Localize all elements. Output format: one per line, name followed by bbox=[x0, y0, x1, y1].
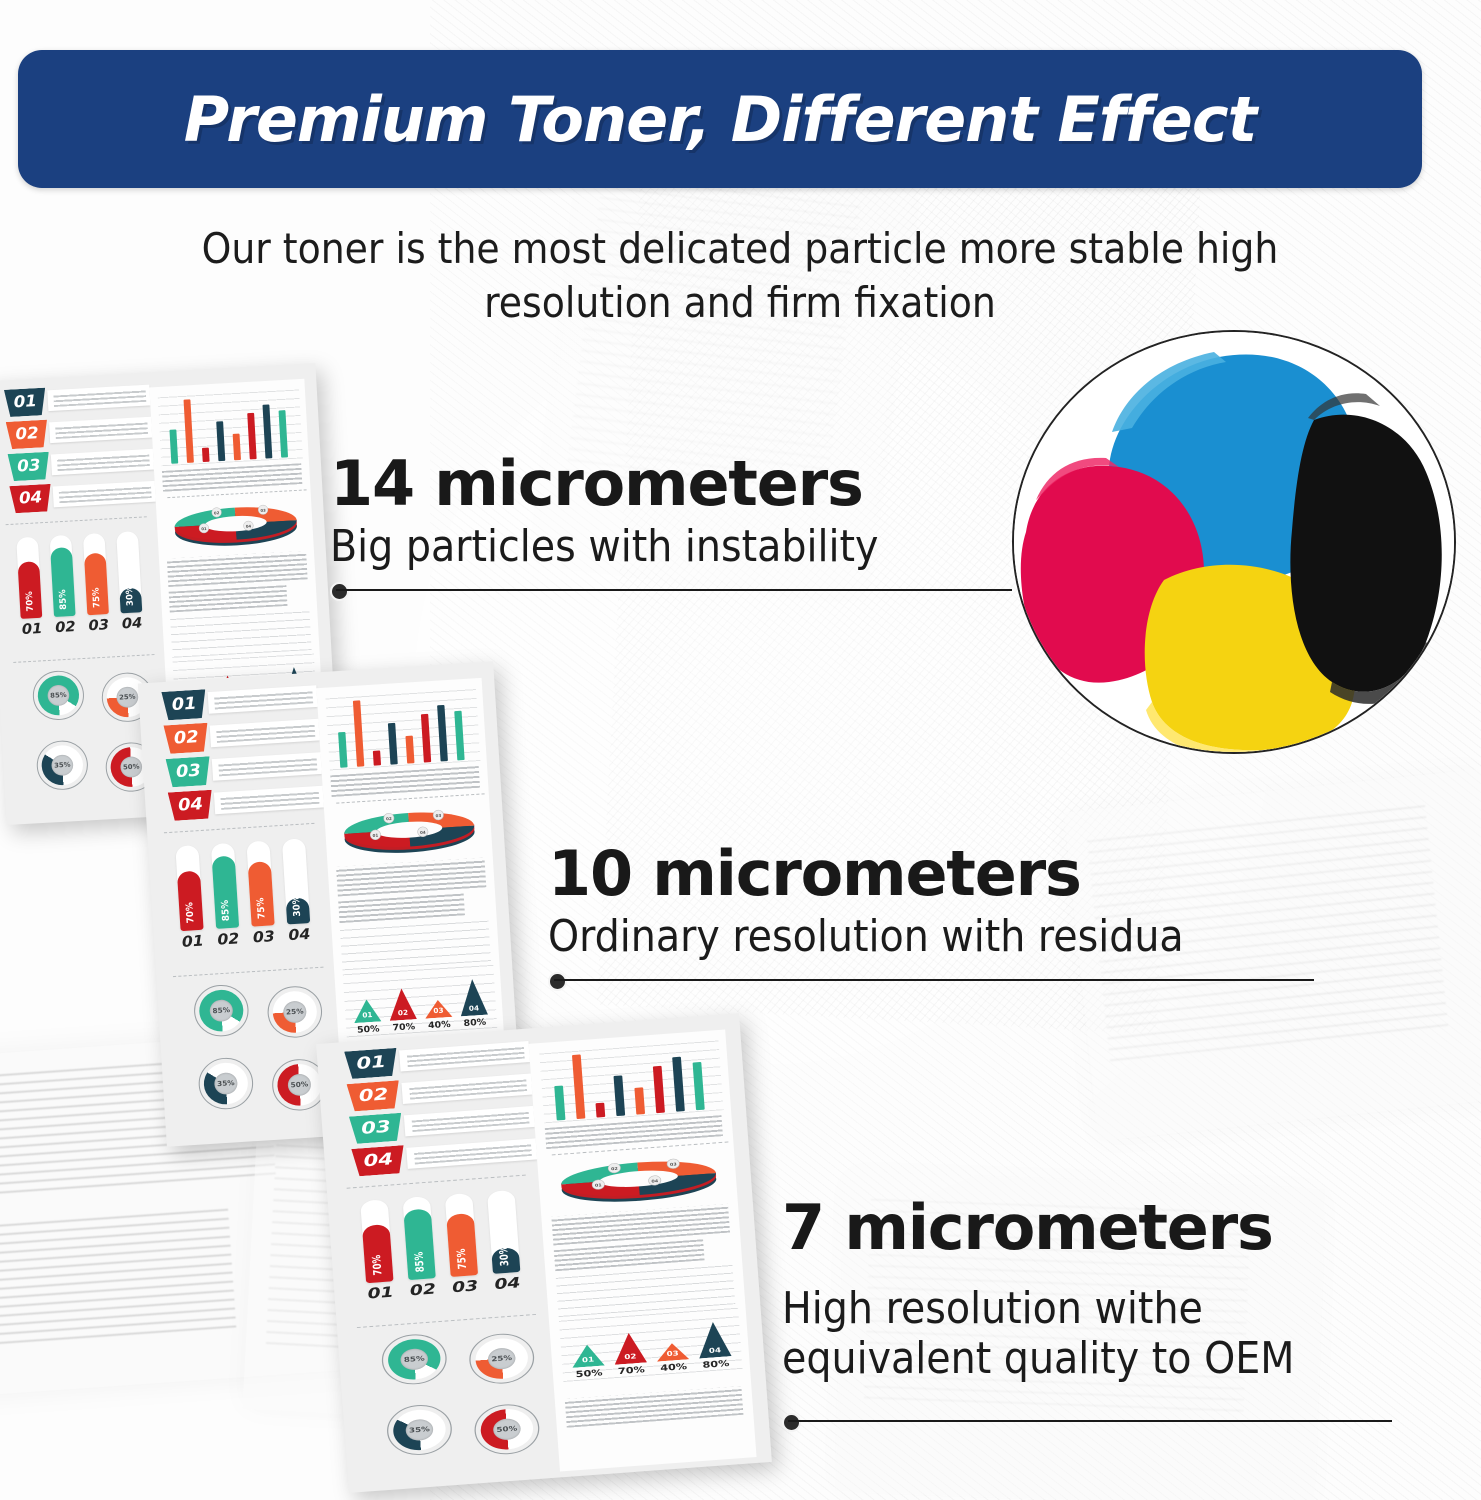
triangle-marker: 0340% bbox=[656, 1342, 690, 1362]
triangle-shape: 02 bbox=[612, 1332, 647, 1365]
donut-gauge: 85% bbox=[380, 1332, 448, 1386]
tag-number: 04 bbox=[178, 796, 204, 814]
placeholder-paragraph bbox=[336, 858, 486, 897]
mini-bar bbox=[653, 1066, 665, 1113]
column-bar: 70% bbox=[21, 618, 43, 619]
placeholder-ruled-lines bbox=[170, 609, 312, 658]
triangle-marker: 0270% bbox=[612, 1332, 647, 1365]
column-bar-value: 30% bbox=[292, 895, 304, 917]
mini-bar bbox=[596, 1103, 606, 1118]
column-bar-label: 04 bbox=[287, 925, 311, 944]
triangle-shape: 01 bbox=[353, 999, 382, 1023]
mini-bar bbox=[454, 711, 464, 761]
column-bar-fill: 85% bbox=[403, 1208, 435, 1280]
triangle-shape: 04 bbox=[459, 978, 488, 1016]
ring-3d-graphic: 01020304 bbox=[545, 1149, 733, 1212]
column-bar-fill: 85% bbox=[50, 547, 75, 617]
mini-bar bbox=[247, 413, 256, 460]
triangle-shape: 02 bbox=[388, 988, 417, 1021]
svg-text:02: 02 bbox=[611, 1166, 618, 1172]
donut-gauge-group: 85%25%35%50% bbox=[170, 978, 338, 1136]
svg-text:01: 01 bbox=[595, 1183, 602, 1189]
tag-number: 01 bbox=[13, 394, 37, 411]
tag-number: 03 bbox=[176, 763, 202, 781]
numbered-tag-list: 01020304 bbox=[0, 382, 150, 514]
donut-gauge: 85% bbox=[193, 983, 251, 1038]
callout-description-line1: High resolution withe bbox=[782, 1284, 1392, 1333]
callout-heading: 14 micrometers bbox=[330, 452, 1012, 516]
triangle-number: 01 bbox=[362, 1011, 373, 1020]
tag-text-card bbox=[401, 1073, 532, 1103]
svg-text:01: 01 bbox=[201, 526, 207, 531]
tag-text-card bbox=[49, 417, 152, 443]
tag-placeholder-text bbox=[55, 421, 148, 439]
svg-text:02: 02 bbox=[214, 510, 220, 515]
placeholder-ruled-lines bbox=[340, 918, 491, 971]
column-bar-label: 03 bbox=[451, 1277, 480, 1296]
column-bar-fill: 85% bbox=[212, 856, 240, 929]
triangle-shape: 03 bbox=[656, 1342, 690, 1362]
column-bar-value: 85% bbox=[58, 589, 69, 610]
mini-bar-chart bbox=[158, 385, 303, 466]
svg-text:03: 03 bbox=[260, 508, 266, 513]
tag-text-card bbox=[51, 449, 154, 475]
column-bar-fill: 30% bbox=[119, 588, 142, 614]
donut-value: 85% bbox=[50, 691, 67, 699]
triangle-value: 40% bbox=[660, 1362, 687, 1374]
numbered-tag-row: 02 bbox=[153, 716, 314, 755]
tag-placeholder-text bbox=[59, 485, 152, 503]
triangle-number: 04 bbox=[469, 1004, 480, 1013]
column-bar-value: 70% bbox=[185, 902, 197, 924]
callout-heading: 7 micrometers bbox=[782, 1196, 1392, 1260]
page-title: Premium Toner, Different Effect bbox=[184, 83, 1256, 156]
mini-bar bbox=[614, 1075, 626, 1116]
svg-text:02: 02 bbox=[386, 816, 392, 821]
tag-placeholder-text bbox=[214, 689, 313, 709]
tag-text-card bbox=[212, 752, 322, 781]
column-bar-label: 03 bbox=[87, 616, 110, 634]
numbered-tag-row: 01 bbox=[0, 382, 145, 418]
donut-gauge: 50% bbox=[473, 1402, 541, 1456]
triangle-shape: 01 bbox=[571, 1344, 605, 1368]
column-bar-value: 30% bbox=[498, 1245, 512, 1266]
donut-gauge: 35% bbox=[197, 1056, 255, 1111]
tag-badge: 02 bbox=[347, 1080, 401, 1112]
tag-placeholder-text bbox=[409, 1078, 527, 1100]
mini-bar bbox=[554, 1085, 565, 1120]
mini-bar bbox=[353, 700, 364, 766]
column-bar-chart: 70%0185%0275%0330%04 bbox=[342, 1179, 539, 1304]
tag-placeholder-text bbox=[412, 1110, 530, 1132]
tag-badge: 04 bbox=[168, 790, 214, 821]
placeholder-paragraph bbox=[551, 1204, 730, 1246]
triangle-marker: 0150% bbox=[353, 999, 382, 1023]
tag-badge: 03 bbox=[8, 452, 51, 482]
tag-text-card bbox=[406, 1138, 537, 1168]
triangle-number: 03 bbox=[433, 1007, 444, 1016]
tag-placeholder-text bbox=[57, 453, 150, 471]
svg-text:04: 04 bbox=[651, 1179, 658, 1185]
column-bar-label: 02 bbox=[409, 1280, 438, 1299]
placeholder-paragraph bbox=[338, 894, 465, 924]
column-bar-label: 01 bbox=[21, 620, 44, 638]
callout-description-line2: equivalent quality to OEM bbox=[782, 1334, 1392, 1383]
triangle-marker: 0150% bbox=[571, 1344, 605, 1368]
triangle-value: 70% bbox=[618, 1365, 645, 1377]
column-bar-value: 30% bbox=[125, 585, 136, 606]
callout-14-micrometers: 14 micrometers Big particles with instab… bbox=[330, 452, 1012, 598]
column-bar-label: 02 bbox=[54, 618, 77, 636]
column-bar-fill: 70% bbox=[18, 561, 43, 619]
tag-badge: 04 bbox=[9, 484, 52, 514]
triangle-shape: 03 bbox=[424, 999, 452, 1018]
tag-badge: 03 bbox=[166, 756, 212, 787]
column-bar-label: 01 bbox=[366, 1283, 395, 1302]
column-bar-fill: 75% bbox=[84, 553, 109, 616]
svg-text:01: 01 bbox=[372, 833, 378, 838]
tag-placeholder-text bbox=[53, 389, 146, 407]
numbered-tag-row: 03 bbox=[0, 446, 148, 482]
triangle-value: 80% bbox=[702, 1359, 729, 1371]
mini-bar bbox=[233, 434, 241, 461]
donut-gauge: 35% bbox=[385, 1403, 453, 1457]
column-bar-fill: 75% bbox=[446, 1213, 478, 1277]
title-banner: Premium Toner, Different Effect bbox=[18, 50, 1422, 188]
ring-3d-chart: 01020304 bbox=[545, 1149, 733, 1212]
tag-placeholder-text bbox=[220, 790, 319, 810]
tag-text-card bbox=[47, 385, 150, 411]
sheet-left-column: 0102030470%0185%0275%0330%0485%25%35%50% bbox=[332, 1039, 553, 1484]
mini-bar bbox=[693, 1062, 705, 1110]
donut-value: 85% bbox=[404, 1355, 425, 1364]
column-bar-label: 01 bbox=[181, 932, 205, 951]
sheet-content: 0102030470%0185%0275%0330%0485%25%35%50%… bbox=[316, 1013, 772, 1493]
donut-value: 50% bbox=[123, 763, 140, 771]
column-bar-value: 85% bbox=[414, 1251, 428, 1272]
donut-value: 25% bbox=[286, 1007, 304, 1016]
donut-gauge: 35% bbox=[35, 739, 89, 791]
mini-bar bbox=[405, 736, 414, 764]
column-bar-fill: 70% bbox=[177, 871, 204, 932]
svg-text:03: 03 bbox=[670, 1162, 677, 1168]
column-bar-chart: 70%0185%0275%0330%04 bbox=[2, 521, 157, 639]
donut-gauge: 85% bbox=[32, 669, 86, 721]
callout-dot-marker bbox=[330, 582, 349, 601]
donut-value: 35% bbox=[217, 1079, 235, 1088]
donut-value: 50% bbox=[496, 1425, 517, 1434]
tag-text-card bbox=[214, 786, 324, 815]
mini-bar bbox=[437, 705, 448, 762]
ring-3d-graphic: 01020304 bbox=[330, 801, 488, 862]
numbered-tag-row: 04 bbox=[157, 783, 318, 822]
triangle-number: 02 bbox=[398, 1009, 409, 1018]
tag-placeholder-text bbox=[414, 1143, 532, 1165]
callout-10-micrometers: 10 micrometers Ordinary resolution with … bbox=[548, 842, 1314, 988]
numbered-tag-list: 01020304 bbox=[332, 1039, 530, 1178]
tag-number: 02 bbox=[358, 1087, 389, 1105]
dashed-separator bbox=[173, 967, 324, 978]
tag-text-card bbox=[53, 481, 156, 507]
triangle-marker: 0340% bbox=[424, 999, 452, 1018]
triangle-marker: 0480% bbox=[459, 978, 488, 1016]
donut-value: 85% bbox=[212, 1006, 230, 1015]
tag-text-card bbox=[210, 719, 320, 748]
tag-badge: 03 bbox=[349, 1113, 403, 1145]
column-bar: 30% bbox=[121, 612, 143, 613]
tag-number: 03 bbox=[361, 1119, 392, 1137]
callout-rule bbox=[782, 1413, 1392, 1429]
tag-number: 02 bbox=[15, 426, 39, 443]
mini-bar bbox=[262, 404, 272, 458]
column-bar-label: 02 bbox=[216, 929, 240, 948]
numbered-tag-list: 01020304 bbox=[151, 683, 318, 822]
callout-description: Ordinary resolution with residua bbox=[548, 912, 1314, 961]
triangle-shape: 04 bbox=[697, 1321, 732, 1359]
callout-rule bbox=[548, 972, 1314, 988]
numbered-tag-row: 01 bbox=[151, 683, 312, 722]
callout-dot-marker bbox=[548, 972, 567, 991]
ring-3d-chart: 01020304 bbox=[330, 801, 488, 862]
mini-bar bbox=[421, 714, 431, 763]
placeholder-paragraph bbox=[162, 463, 302, 492]
sheet-left-column: 0102030470%0185%0275%0330%0485%25%35%50% bbox=[151, 683, 338, 1138]
cmyk-toner-powder-image bbox=[1012, 330, 1456, 754]
mini-bar bbox=[279, 410, 289, 458]
column-bar-label: 04 bbox=[121, 614, 144, 632]
donut-gauge: 25% bbox=[266, 985, 324, 1040]
tag-number: 02 bbox=[173, 729, 199, 747]
placeholder-paragraph bbox=[169, 585, 288, 612]
tag-placeholder-text bbox=[218, 756, 317, 776]
svg-text:04: 04 bbox=[420, 830, 426, 835]
mini-bar bbox=[634, 1087, 645, 1114]
tag-placeholder-text bbox=[216, 723, 315, 743]
mini-bar bbox=[672, 1057, 685, 1112]
donut-value: 35% bbox=[409, 1425, 430, 1434]
triangle-value: 50% bbox=[357, 1024, 380, 1035]
tag-text-card bbox=[208, 685, 318, 714]
triangle-number: 04 bbox=[709, 1346, 722, 1355]
triangle-area-chart: 0150%0270%0340%0480% bbox=[559, 1306, 743, 1382]
tag-number: 03 bbox=[17, 458, 41, 475]
donut-value: 50% bbox=[290, 1080, 308, 1089]
mini-bar bbox=[202, 448, 210, 463]
column-bar-fill: 75% bbox=[248, 861, 275, 926]
callout-dot-marker bbox=[782, 1413, 801, 1432]
column-bar-value: 70% bbox=[372, 1254, 386, 1275]
column-bar-fill: 30% bbox=[491, 1247, 520, 1274]
numbered-tag-row: 03 bbox=[155, 750, 316, 789]
numbered-tag-row: 02 bbox=[0, 414, 147, 450]
triangle-number: 02 bbox=[624, 1353, 637, 1362]
donut-value: 25% bbox=[491, 1354, 512, 1363]
triangle-marker: 0270% bbox=[388, 988, 417, 1021]
mini-bar bbox=[388, 723, 398, 765]
column-bar-chart: 70%0185%0275%0330%04 bbox=[160, 828, 326, 952]
tag-text-card bbox=[404, 1106, 535, 1136]
callout-line bbox=[554, 979, 1314, 981]
column-bar-value: 85% bbox=[221, 900, 233, 922]
page-subtitle: Our toner is the most delicated particle… bbox=[120, 222, 1360, 330]
svg-text:03: 03 bbox=[435, 813, 441, 818]
tag-badge: 01 bbox=[161, 689, 207, 720]
powder-illustration bbox=[1014, 332, 1454, 752]
donut-gauge-group: 85%25%35%50% bbox=[353, 1325, 553, 1482]
donut-value: 35% bbox=[54, 761, 71, 769]
callout-7-micrometers: 7 micrometers High resolution withe equi… bbox=[782, 1196, 1392, 1429]
column-bar-value: 75% bbox=[456, 1248, 470, 1269]
column-bar-label: 04 bbox=[493, 1274, 522, 1293]
triangle-value: 70% bbox=[392, 1022, 415, 1033]
mini-bar bbox=[216, 421, 225, 461]
callout-heading: 10 micrometers bbox=[548, 842, 1314, 906]
mini-bar bbox=[572, 1054, 585, 1119]
tag-badge: 02 bbox=[6, 420, 49, 450]
tag-badge: 02 bbox=[163, 723, 209, 754]
callout-rule bbox=[330, 582, 1012, 598]
column-bar-value: 75% bbox=[256, 897, 268, 919]
tag-badge: 01 bbox=[344, 1048, 398, 1080]
placeholder-paragraph bbox=[167, 551, 308, 587]
column-bar-value: 75% bbox=[92, 587, 103, 608]
callout-description: Big particles with instability bbox=[330, 522, 1012, 571]
placeholder-paragraph bbox=[330, 766, 480, 797]
tag-number: 01 bbox=[356, 1054, 387, 1072]
mini-bar bbox=[373, 750, 381, 765]
triangle-value: 50% bbox=[575, 1369, 602, 1381]
placeholder-paragraph bbox=[565, 1386, 744, 1428]
tag-text-card bbox=[399, 1041, 530, 1071]
column-bar-value: 70% bbox=[25, 591, 36, 612]
ring-3d-graphic: 01020304 bbox=[162, 497, 310, 554]
tag-number: 04 bbox=[363, 1152, 394, 1170]
mini-bar-chart bbox=[539, 1036, 724, 1124]
tag-placeholder-text bbox=[407, 1045, 525, 1067]
triangle-number: 03 bbox=[666, 1350, 679, 1359]
ring-3d-chart: 01020304 bbox=[162, 497, 310, 554]
sheet-right-column: 010203040150%0270%0340%0480% bbox=[529, 1029, 757, 1471]
triangle-value: 40% bbox=[428, 1020, 451, 1031]
svg-text:04: 04 bbox=[246, 524, 252, 529]
callout-line bbox=[788, 1420, 1392, 1422]
tag-badge: 04 bbox=[351, 1145, 405, 1177]
tag-number: 04 bbox=[19, 490, 43, 507]
mini-bar-chart bbox=[325, 684, 480, 770]
donut-value: 25% bbox=[119, 693, 136, 701]
infographic-sheet-7um: 0102030470%0185%0275%0330%0485%25%35%50%… bbox=[316, 1013, 772, 1493]
column-bar-label: 03 bbox=[252, 927, 276, 946]
callout-line bbox=[336, 589, 1012, 591]
mini-bar bbox=[338, 732, 348, 768]
mini-bar bbox=[184, 399, 194, 463]
column-bar-fill: 70% bbox=[362, 1224, 394, 1283]
tag-badge: 01 bbox=[4, 388, 47, 418]
column-bar-fill: 30% bbox=[286, 897, 311, 924]
numbered-tag-row: 04 bbox=[0, 478, 150, 514]
triangle-marker: 0480% bbox=[697, 1321, 732, 1359]
tag-number: 01 bbox=[171, 696, 197, 714]
dashed-separator bbox=[13, 654, 154, 664]
donut-gauge: 25% bbox=[468, 1331, 536, 1385]
mini-bar bbox=[169, 429, 178, 463]
triangle-number: 01 bbox=[582, 1356, 595, 1365]
triangle-area-chart: 0150%0270%0340%0480% bbox=[343, 963, 498, 1037]
triangle-value: 80% bbox=[463, 1018, 486, 1029]
